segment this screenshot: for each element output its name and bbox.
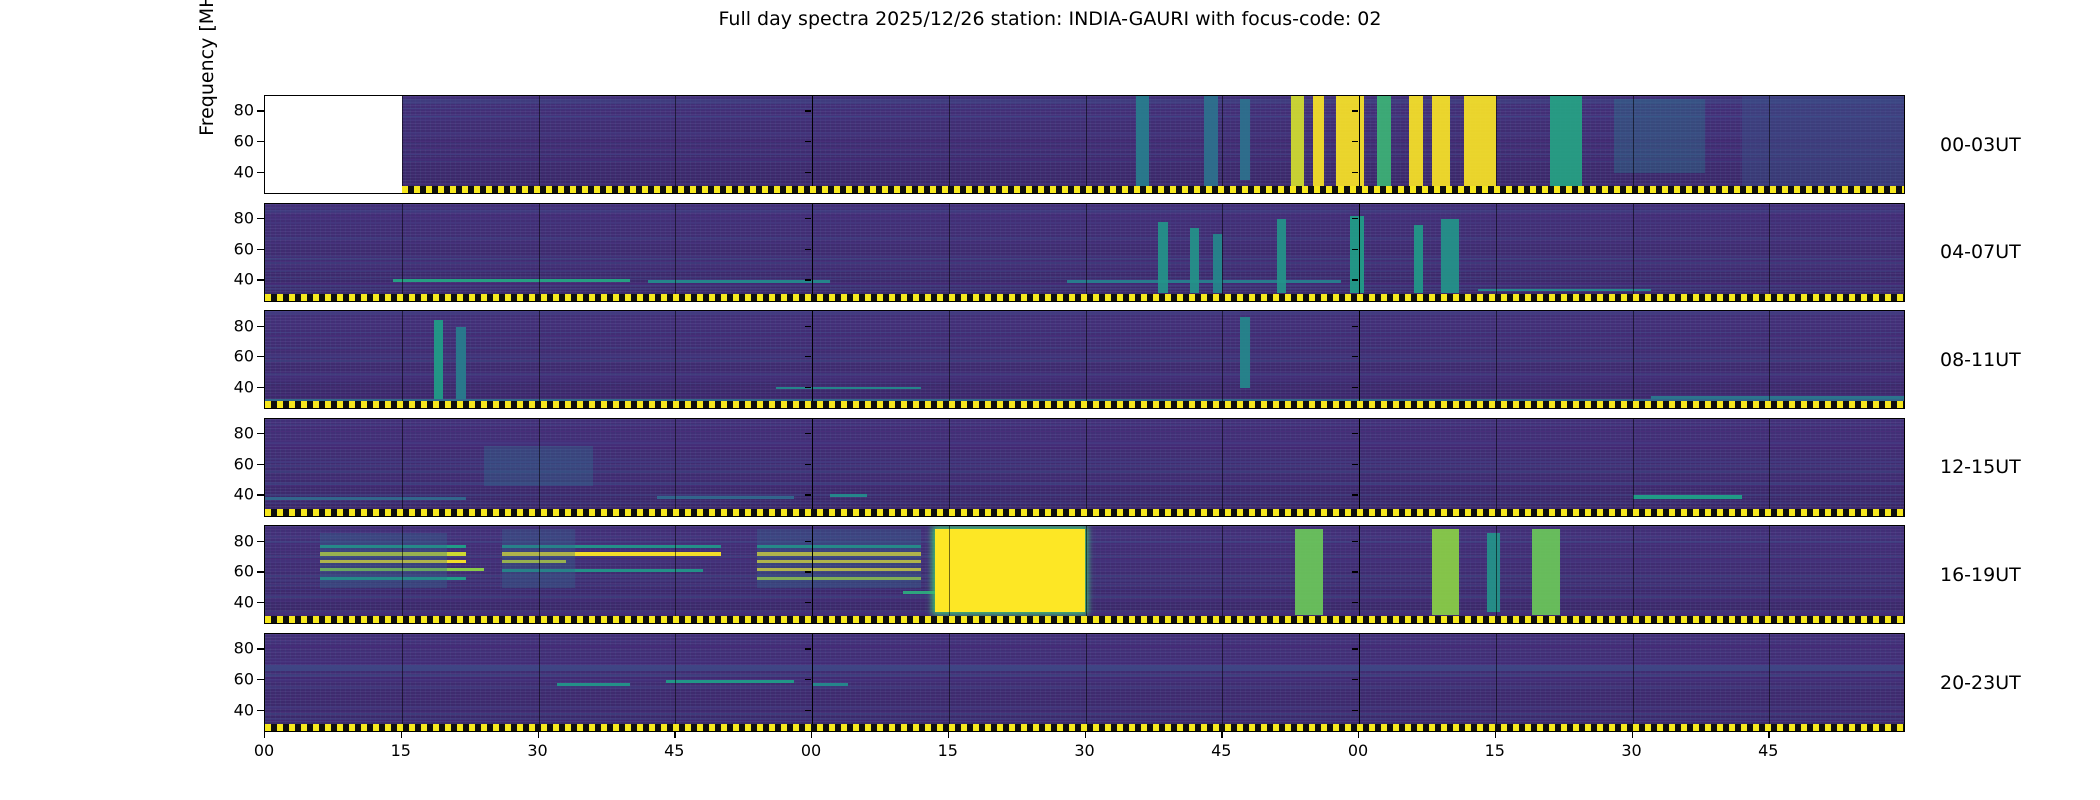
y-tick-label: 40 — [234, 162, 254, 181]
y-tick-mark-inner — [805, 710, 811, 711]
x-tick-mark — [1085, 732, 1086, 738]
quarter-hour-separator — [1769, 311, 1770, 408]
spectral-horizontal-band — [393, 279, 630, 282]
y-tick-mark — [257, 433, 264, 434]
spectral-vertical-stripe — [1487, 533, 1501, 613]
y-tick-mark-inner — [805, 541, 811, 542]
y-tick-mark-inner — [805, 218, 811, 219]
quarter-hour-separator — [402, 634, 403, 731]
x-tick-label: 00 — [254, 741, 274, 760]
spectral-vertical-stripe — [1295, 529, 1322, 615]
x-tick-label: 00 — [1348, 741, 1368, 760]
spectral-vertical-stripe — [1377, 96, 1391, 188]
quarter-hour-separator — [1633, 311, 1634, 408]
hour-separator — [812, 96, 813, 193]
spectral-vertical-stripe — [1550, 96, 1582, 188]
quarter-hour-separator — [1633, 204, 1634, 301]
y-tick-mark-inner — [1352, 710, 1358, 711]
spectrogram-image — [265, 634, 1904, 731]
noise-striation — [265, 680, 1904, 682]
hour-separator — [812, 526, 813, 623]
y-tick-label: 40 — [234, 593, 254, 612]
noise-striation — [265, 386, 1904, 387]
y-tick-mark-inner — [805, 326, 811, 327]
noise-striation — [265, 262, 1904, 264]
spectral-horizontal-band — [776, 387, 922, 389]
noise-striation — [265, 215, 1904, 217]
quarter-hour-separator — [675, 634, 676, 731]
noise-striation — [265, 324, 1904, 325]
noise-striation — [265, 380, 1904, 381]
noise-striation — [265, 237, 1904, 239]
y-tick-mark-inner — [805, 679, 811, 680]
quarter-hour-separator — [1769, 526, 1770, 623]
noise-striation — [265, 311, 1904, 313]
y-tick-mark-inner — [805, 494, 811, 495]
y-tick-mark — [257, 679, 264, 680]
spectral-horizontal-band — [1651, 396, 1905, 399]
spectral-vertical-stripe — [1313, 96, 1324, 188]
quarter-hour-separator — [949, 96, 950, 193]
page-title: Full day spectra 2025/12/26 station: IND… — [0, 8, 2100, 30]
noise-striation — [265, 283, 1904, 284]
y-tick-mark-inner — [1352, 218, 1358, 219]
y-tick-mark-inner — [805, 279, 811, 280]
noise-striation — [265, 335, 1904, 337]
y-tick-label: 60 — [234, 670, 254, 689]
noise-striation — [265, 212, 1904, 213]
spectral-horizontal-band — [1067, 280, 1341, 283]
noise-striation — [265, 183, 1904, 185]
spectral-horizontal-band — [657, 496, 794, 498]
panel-time-range-label: 04-07UT — [1940, 241, 2021, 263]
y-tick-mark — [257, 464, 264, 465]
spectral-vertical-stripe — [1136, 96, 1150, 188]
hour-separator — [812, 204, 813, 301]
y-tick-label: 60 — [234, 239, 254, 258]
noise-striation — [265, 242, 1904, 244]
y-tick-mark — [257, 602, 264, 603]
y-tick-mark — [257, 571, 264, 572]
y-tick-mark-inner — [1352, 326, 1358, 327]
quarter-hour-separator — [949, 311, 950, 408]
quarter-hour-separator — [1496, 526, 1497, 623]
spectral-vertical-stripe — [1213, 234, 1222, 292]
y-tick-mark-inner — [805, 571, 811, 572]
noise-striation — [265, 718, 1904, 720]
noise-striation — [265, 269, 1904, 270]
noise-striation — [265, 677, 1904, 678]
noise-striation — [265, 651, 1904, 652]
baseline-dashed-marker — [265, 509, 1904, 516]
y-tick-mark-inner — [1352, 541, 1358, 542]
noise-striation — [265, 388, 1904, 389]
spectrogram-figure: Full day spectra 2025/12/26 station: IND… — [0, 0, 2100, 800]
x-tick-label: 30 — [1074, 741, 1094, 760]
spectral-vertical-stripe — [1204, 96, 1218, 188]
noise-striation — [265, 686, 1904, 688]
y-tick-label: 80 — [234, 316, 254, 335]
y-tick-mark — [257, 279, 264, 280]
y-tick-mark — [257, 218, 264, 219]
spectral-vertical-stripe — [1441, 219, 1459, 293]
noise-striation — [265, 207, 1904, 208]
spectrogram-panel-12-15ut[interactable]: 806040 — [264, 418, 1905, 517]
noise-striation — [265, 645, 1904, 647]
baseline-dashed-marker — [265, 294, 1904, 301]
x-tick-mark — [1495, 732, 1496, 738]
y-tick-label: 80 — [234, 208, 254, 227]
x-tick-label: 30 — [527, 741, 547, 760]
y-tick-mark — [257, 710, 264, 711]
quarter-hour-separator — [949, 204, 950, 301]
y-tick-mark-inner — [1352, 172, 1358, 173]
quarter-hour-separator — [1086, 419, 1087, 516]
x-tick-label: 30 — [1621, 741, 1641, 760]
noise-striation — [265, 356, 1904, 358]
noise-striation — [265, 332, 1904, 333]
spectral-vertical-stripe — [1432, 529, 1459, 615]
y-tick-label: 60 — [234, 347, 254, 366]
noise-striation — [265, 383, 1904, 385]
noise-striation — [265, 378, 1904, 379]
noise-striation — [265, 442, 1904, 444]
quarter-hour-separator — [1222, 96, 1223, 193]
quarter-hour-separator — [949, 419, 950, 516]
y-tick-mark-inner — [1352, 464, 1358, 465]
noise-striation — [265, 350, 1904, 351]
spectral-horizontal-band — [666, 680, 794, 683]
spectral-vertical-stripe — [1432, 96, 1450, 188]
quarter-hour-separator — [1633, 526, 1634, 623]
y-tick-mark — [257, 541, 264, 542]
hour-separator — [812, 634, 813, 731]
y-tick-mark-inner — [1352, 602, 1358, 603]
x-tick-mark — [1632, 732, 1633, 738]
y-tick-mark — [257, 172, 264, 173]
spectral-horizontal-band — [265, 497, 466, 500]
quarter-hour-separator — [539, 96, 540, 193]
y-tick-mark-inner — [805, 602, 811, 603]
noise-striation — [265, 424, 1904, 425]
y-tick-mark-inner — [1352, 494, 1358, 495]
hour-separator — [1359, 419, 1360, 516]
y-tick-label: 40 — [234, 485, 254, 504]
quarter-hour-separator — [402, 526, 403, 623]
y-tick-mark-inner — [1352, 356, 1358, 357]
quarter-hour-separator — [1633, 634, 1634, 731]
x-tick-label: 45 — [1758, 741, 1778, 760]
quarter-hour-separator — [1222, 419, 1223, 516]
no-data-region — [265, 96, 402, 193]
quarter-hour-separator — [1496, 96, 1497, 193]
spectral-vertical-stripe — [1240, 99, 1249, 180]
spectral-vertical-stripe — [1190, 228, 1199, 292]
hour-separator — [1359, 204, 1360, 301]
x-tick-mark — [1768, 732, 1769, 738]
y-tick-label: 80 — [234, 424, 254, 443]
y-tick-mark-inner — [1352, 571, 1358, 572]
y-tick-mark-inner — [1352, 110, 1358, 111]
noise-striation — [265, 218, 1904, 220]
quarter-hour-separator — [1496, 204, 1497, 301]
y-tick-label: 80 — [234, 639, 254, 658]
quarter-hour-separator — [1633, 419, 1634, 516]
spectral-patch — [320, 533, 448, 588]
baseline-dashed-marker — [265, 724, 1904, 731]
y-tick-mark — [257, 356, 264, 357]
y-tick-mark-inner — [805, 249, 811, 250]
quarter-hour-separator — [1769, 96, 1770, 193]
spectral-vertical-stripe — [1291, 96, 1305, 188]
y-tick-mark — [257, 249, 264, 250]
baseline-dashed-marker — [265, 616, 1904, 623]
noise-striation — [265, 288, 1904, 290]
spectral-vertical-stripe — [1240, 317, 1249, 388]
quarter-hour-separator — [1086, 634, 1087, 731]
spectrogram-panel-00-03ut[interactable]: 806040 — [264, 95, 1905, 194]
x-tick-label: 45 — [664, 741, 684, 760]
y-tick-mark-inner — [1352, 433, 1358, 434]
spectral-horizontal-band — [1633, 495, 1742, 498]
spectral-vertical-stripe — [1409, 96, 1423, 188]
hour-separator — [812, 311, 813, 408]
quarter-hour-separator — [1086, 526, 1087, 623]
quarter-hour-separator — [1769, 634, 1770, 731]
y-tick-mark-inner — [1352, 141, 1358, 142]
quarter-hour-separator — [949, 526, 950, 623]
x-tick-mark — [1221, 732, 1222, 738]
spectral-vertical-stripe — [434, 320, 443, 403]
hour-separator — [1359, 311, 1360, 408]
y-tick-mark — [257, 387, 264, 388]
x-tick-label: 15 — [1485, 741, 1505, 760]
x-tick-label: 45 — [1211, 741, 1231, 760]
spectral-vertical-stripe — [1464, 96, 1496, 188]
x-tick-mark — [811, 732, 812, 738]
spectrogram-panel-08-11ut[interactable]: 806040 — [264, 310, 1905, 409]
x-tick-mark — [948, 732, 949, 738]
y-tick-mark-inner — [805, 110, 811, 111]
spectral-vertical-stripe — [1414, 225, 1423, 292]
spectral-vertical-stripe — [1277, 219, 1286, 293]
quarter-hour-separator — [402, 204, 403, 301]
noise-striation — [265, 647, 1904, 648]
noise-striation — [265, 285, 1904, 286]
noise-striation — [265, 258, 1904, 260]
panel-plot-area[interactable] — [264, 203, 1905, 302]
spectrogram-panel-04-07ut[interactable]: 806040 — [264, 203, 1905, 302]
quarter-hour-separator — [675, 96, 676, 193]
quarter-hour-separator — [1496, 634, 1497, 731]
panel-time-range-label: 16-19UT — [1940, 564, 2021, 586]
noise-striation — [265, 641, 1904, 643]
y-tick-mark — [257, 141, 264, 142]
quarter-hour-separator — [1222, 311, 1223, 408]
spectral-patch — [757, 529, 921, 587]
noise-striation — [265, 431, 1904, 432]
quarter-hour-separator — [402, 419, 403, 516]
quarter-hour-separator — [1222, 634, 1223, 731]
spectral-horizontal-band — [830, 494, 866, 497]
baseline-dashed-marker — [265, 401, 1904, 408]
noise-striation — [265, 707, 1904, 709]
hour-separator — [1359, 634, 1360, 731]
panel-time-range-label: 08-11UT — [1940, 349, 2021, 371]
quarter-hour-separator — [1222, 526, 1223, 623]
quarter-hour-separator — [539, 204, 540, 301]
spectral-horizontal-band — [1478, 289, 1651, 291]
noise-striation — [265, 661, 1904, 663]
y-tick-mark-inner — [1352, 387, 1358, 388]
x-tick-mark — [674, 732, 675, 738]
quarter-hour-separator — [539, 526, 540, 623]
quarter-hour-separator — [1086, 311, 1087, 408]
spectral-horizontal-band — [557, 683, 630, 686]
quarter-hour-separator — [1769, 204, 1770, 301]
y-tick-label: 80 — [234, 531, 254, 550]
y-tick-mark-inner — [1352, 279, 1358, 280]
y-tick-label: 40 — [234, 700, 254, 719]
noise-striation — [265, 222, 1904, 224]
spectral-patch — [1614, 99, 1705, 173]
panel-plot-area[interactable] — [264, 525, 1905, 624]
noise-striation — [265, 277, 1904, 278]
spectral-vertical-stripe — [1532, 529, 1559, 615]
quarter-hour-separator — [402, 96, 403, 193]
y-tick-label: 60 — [234, 132, 254, 151]
spectrogram-panel-20-23ut[interactable]: 806040001530450015304500153045 — [264, 633, 1905, 732]
y-tick-label: 40 — [234, 377, 254, 396]
y-tick-mark — [257, 648, 264, 649]
panel-plot-area[interactable] — [264, 95, 1905, 194]
noise-striation — [265, 265, 1904, 266]
y-tick-mark-inner — [805, 464, 811, 465]
x-tick-label: 15 — [391, 741, 411, 760]
quarter-hour-separator — [1086, 96, 1087, 193]
spectral-patch — [1742, 96, 1905, 188]
noise-striation — [265, 721, 1904, 722]
quarter-hour-separator — [1222, 204, 1223, 301]
quarter-hour-separator — [539, 311, 540, 408]
noise-striation — [265, 377, 1904, 378]
y-tick-label: 40 — [234, 270, 254, 289]
quarter-hour-separator — [675, 526, 676, 623]
spectral-burst-block — [935, 529, 1085, 612]
y-tick-mark-inner — [805, 387, 811, 388]
quarter-hour-separator — [1769, 419, 1770, 516]
quarter-hour-separator — [539, 634, 540, 731]
x-tick-mark — [1358, 732, 1359, 738]
y-tick-mark-inner — [805, 433, 811, 434]
quarter-hour-separator — [675, 311, 676, 408]
quarter-hour-separator — [402, 311, 403, 408]
panel-time-range-label: 20-23UT — [1940, 672, 2021, 694]
panel-time-range-label: 12-15UT — [1940, 456, 2021, 478]
noise-striation — [265, 713, 1904, 715]
spectral-horizontal-band — [812, 683, 848, 686]
noise-striation — [265, 360, 1904, 362]
panel-time-range-label: 00-03UT — [1940, 134, 2021, 156]
baseline-dashed-marker — [402, 186, 1904, 193]
y-tick-label: 60 — [234, 562, 254, 581]
x-tick-label: 00 — [801, 741, 821, 760]
quarter-hour-separator — [1496, 311, 1497, 408]
quarter-hour-separator — [949, 634, 950, 731]
quarter-hour-separator — [539, 419, 540, 516]
quarter-hour-separator — [1496, 419, 1497, 516]
y-tick-label: 60 — [234, 454, 254, 473]
noise-striation — [265, 440, 1904, 442]
noise-striation — [265, 372, 1904, 373]
panel-plot-area[interactable] — [264, 633, 1905, 732]
y-tick-mark — [257, 494, 264, 495]
y-tick-mark-inner — [805, 141, 811, 142]
y-tick-mark-inner — [1352, 249, 1358, 250]
quarter-hour-separator — [675, 204, 676, 301]
noise-striation — [265, 698, 1904, 700]
spectral-vertical-stripe — [1158, 222, 1167, 293]
spectrogram-panel-16-19ut[interactable]: 806040 — [264, 525, 1905, 624]
panel-plot-area[interactable] — [264, 310, 1905, 409]
y-tick-label: 80 — [234, 101, 254, 120]
noise-striation — [265, 711, 1904, 712]
noise-striation — [265, 502, 1904, 504]
panel-plot-area[interactable] — [264, 418, 1905, 517]
y-tick-mark-inner — [1352, 648, 1358, 649]
y-tick-mark-inner — [805, 172, 811, 173]
x-tick-mark — [538, 732, 539, 738]
x-tick-mark — [264, 732, 265, 738]
x-tick-label: 15 — [938, 741, 958, 760]
y-tick-mark-inner — [805, 356, 811, 357]
hour-separator — [1359, 526, 1360, 623]
y-tick-mark-inner — [805, 648, 811, 649]
y-tick-mark — [257, 326, 264, 327]
hour-separator — [812, 419, 813, 516]
y-tick-mark-inner — [1352, 679, 1358, 680]
x-tick-mark — [401, 732, 402, 738]
noise-striation — [265, 427, 1904, 428]
spectral-vertical-stripe — [456, 327, 465, 404]
hour-separator — [1359, 96, 1360, 193]
quarter-hour-separator — [675, 419, 676, 516]
y-tick-mark — [257, 110, 264, 111]
quarter-hour-separator — [1086, 204, 1087, 301]
quarter-hour-separator — [1633, 96, 1634, 193]
spectral-vertical-stripe — [1350, 216, 1364, 293]
y-axis-label: Frequency [MHz] — [196, 0, 218, 236]
